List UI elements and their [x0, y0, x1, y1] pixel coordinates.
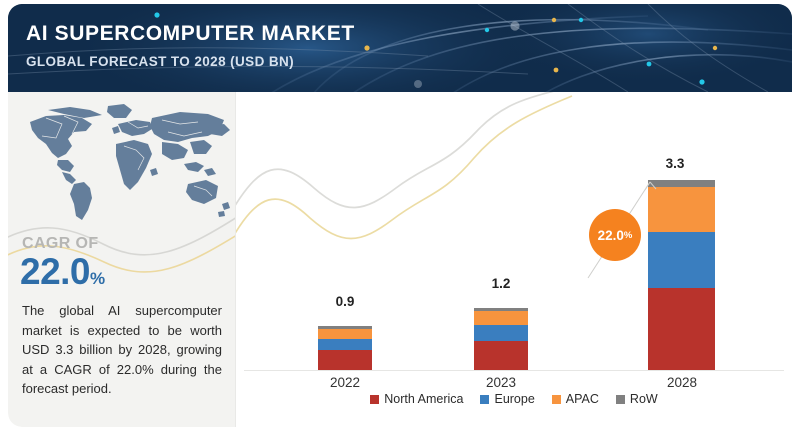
x-axis-label-2022: 2022: [290, 375, 400, 390]
world-map-graphic: [12, 98, 232, 226]
legend-swatch-europe: [480, 395, 489, 404]
cagr-number: 22.0: [20, 251, 90, 292]
axis-baseline: [244, 370, 784, 371]
x-axis-label-2028: 2028: [627, 375, 737, 390]
plot-area: 0.9 1.2 3.3: [236, 92, 792, 382]
bar-segment-north-america-2028: [648, 288, 715, 370]
bar-2022: [318, 326, 372, 370]
infographic-card: AI SUPERCOMPUTER MARKET GLOBAL FORECAST …: [8, 4, 792, 427]
legend-label-row: RoW: [630, 392, 658, 406]
bar-2023: [474, 308, 528, 370]
bar-segment-apac-2028: [648, 187, 715, 232]
bar-segment-europe-2028: [648, 232, 715, 288]
bar-segment-apac-2022: [318, 329, 372, 339]
banner-network-graphic: [8, 4, 792, 92]
sidebar-panel: CAGR OF 22.0% The global AI supercompute…: [8, 92, 235, 427]
cagr-badge-symbol: %: [624, 230, 632, 241]
header-banner: AI SUPERCOMPUTER MARKET GLOBAL FORECAST …: [8, 4, 792, 92]
cagr-badge: 22.0%: [589, 209, 641, 261]
page-title: AI SUPERCOMPUTER MARKET: [26, 22, 355, 46]
cagr-badge-value: 22.0: [598, 228, 624, 243]
legend-swatch-row: [616, 395, 625, 404]
market-description: The global AI supercomputer market is ex…: [22, 301, 222, 399]
legend-swatch-north-america: [370, 395, 379, 404]
infographic-page: AI SUPERCOMPUTER MARKET GLOBAL FORECAST …: [0, 0, 800, 431]
cagr-value: 22.0%: [20, 251, 105, 293]
legend-item-north-america[interactable]: North America: [370, 392, 463, 406]
page-subtitle: GLOBAL FORECAST TO 2028 (USD BN): [26, 54, 294, 69]
bar-segment-north-america-2022: [318, 350, 372, 370]
bar-segment-europe-2022: [318, 339, 372, 350]
legend-item-row[interactable]: RoW: [616, 392, 658, 406]
chart-legend: North America Europe APAC RoW: [236, 392, 792, 406]
bar-total-label-2022: 0.9: [300, 294, 390, 309]
bar-segment-north-america-2023: [474, 341, 528, 370]
x-axis-label-2023: 2023: [446, 375, 556, 390]
legend-label-apac: APAC: [566, 392, 599, 406]
legend-label-north-america: North America: [384, 392, 463, 406]
bar-segment-row-2028: [648, 180, 715, 187]
legend-label-europe: Europe: [494, 392, 534, 406]
bar-segment-europe-2023: [474, 325, 528, 341]
legend-item-europe[interactable]: Europe: [480, 392, 534, 406]
bar-total-label-2023: 1.2: [456, 276, 546, 291]
legend-swatch-apac: [552, 395, 561, 404]
cagr-percent-symbol: %: [90, 269, 105, 288]
chart-panel: 0.9 1.2 3.3: [235, 92, 792, 427]
bar-total-label-2028: 3.3: [630, 156, 720, 171]
bar-segment-apac-2023: [474, 311, 528, 325]
bar-2028: [648, 180, 715, 370]
legend-item-apac[interactable]: APAC: [552, 392, 599, 406]
